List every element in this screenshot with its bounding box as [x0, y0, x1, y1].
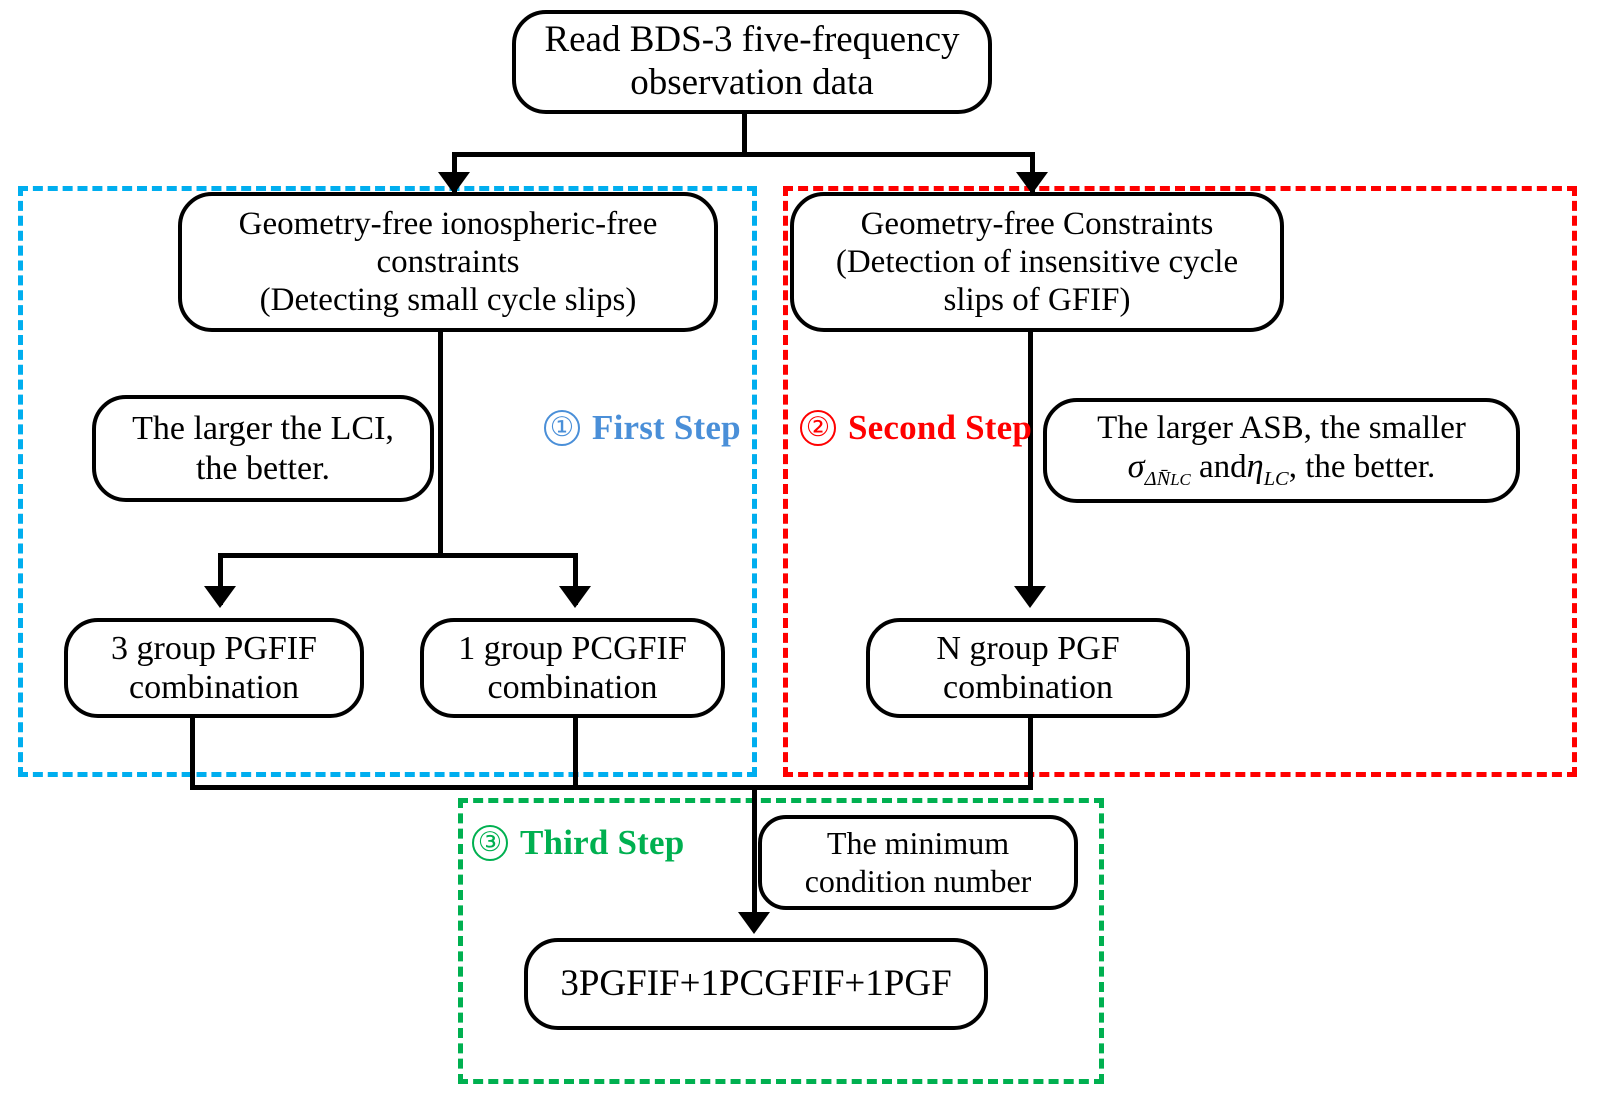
step-text-second: Second Step: [848, 408, 1032, 448]
node-result[interactable]: 3PGFIF+1PCGFIF+1PGF: [524, 938, 988, 1030]
connector-split-bar-mid: [218, 553, 578, 558]
node-read-data[interactable]: Read BDS-3 five-frequency observation da…: [512, 10, 992, 114]
step-label-second: ② Second Step: [800, 408, 1032, 448]
connector-gfif-down: [438, 330, 443, 558]
node-lci-rule[interactable]: The larger the LCI, the better.: [92, 395, 434, 502]
arrowhead-to-pcgfif: [559, 586, 591, 608]
node-asb-rule-content: The larger ASB, the smaller σΔN̄LC andηL…: [1087, 409, 1476, 492]
connector-pcgfif-down: [573, 718, 578, 790]
node-min-condition-label: The minimum condition number: [795, 825, 1042, 899]
node-min-condition[interactable]: The minimum condition number: [758, 815, 1078, 910]
node-lci-rule-label: The larger the LCI, the better.: [122, 409, 404, 488]
node-pgfif[interactable]: 3 group PGFIF combination: [64, 618, 364, 718]
step-text-first: First Step: [592, 408, 741, 448]
node-asb-rule[interactable]: The larger ASB, the smaller σΔN̄LC andηL…: [1043, 398, 1520, 503]
connector-pgfif-down: [190, 718, 195, 790]
connector-gf-down: [1028, 330, 1033, 592]
sigma-subscript-lc: LC: [1170, 470, 1191, 489]
node-read-data-label: Read BDS-3 five-frequency observation da…: [534, 19, 969, 105]
step-numeral-first-icon: ①: [544, 410, 580, 446]
connector-split-bar-top: [452, 152, 1035, 157]
step-label-first: ① First Step: [544, 408, 741, 448]
step-label-third: ③ Third Step: [472, 823, 684, 863]
node-gf-constraints[interactable]: Geometry-free Constraints (Detection of …: [790, 192, 1284, 332]
node-result-label: 3PGFIF+1PCGFIF+1PGF: [550, 963, 961, 1006]
connector-read-to-split: [742, 112, 747, 157]
arrowhead-to-result: [738, 912, 770, 934]
node-asb-rule-line1: The larger ASB, the smaller: [1097, 410, 1466, 446]
sigma-symbol: σ: [1128, 447, 1145, 485]
connector-pgf-down: [1028, 718, 1033, 790]
flowchart-canvas: Read BDS-3 five-frequency observation da…: [0, 0, 1600, 1111]
arrowhead-to-pgfif: [204, 586, 236, 608]
node-gfif-constraints-label: Geometry-free ionospheric-free constrain…: [229, 205, 668, 320]
step-numeral-third-icon: ③: [472, 825, 508, 861]
arrowhead-to-pgf: [1014, 586, 1046, 608]
connector-merge-bar: [190, 785, 1033, 790]
conjunction-and: and: [1199, 449, 1247, 485]
node-gfif-constraints[interactable]: Geometry-free ionospheric-free constrain…: [178, 192, 718, 332]
eta-subscript-lc: LC: [1264, 468, 1289, 490]
step-text-third: Third Step: [520, 823, 684, 863]
connector-merge-down: [752, 785, 757, 927]
node-pgfif-label: 3 group PGFIF combination: [101, 629, 327, 708]
node-gf-constraints-label: Geometry-free Constraints (Detection of …: [826, 205, 1248, 320]
asb-rule-tail: , the better.: [1289, 449, 1436, 485]
node-pcgfif-label: 1 group PCGFIF combination: [448, 629, 697, 708]
eta-symbol: η: [1247, 447, 1264, 485]
step-numeral-second-icon: ②: [800, 410, 836, 446]
sigma-subscript-delta-nbar: ΔN̄: [1145, 468, 1171, 490]
node-pcgfif[interactable]: 1 group PCGFIF combination: [420, 618, 725, 718]
node-pgf-label: N group PGF combination: [926, 629, 1129, 708]
arrowhead-to-gf: [1016, 172, 1048, 194]
node-pgf[interactable]: N group PGF combination: [866, 618, 1190, 718]
arrowhead-to-gfif: [438, 172, 470, 194]
